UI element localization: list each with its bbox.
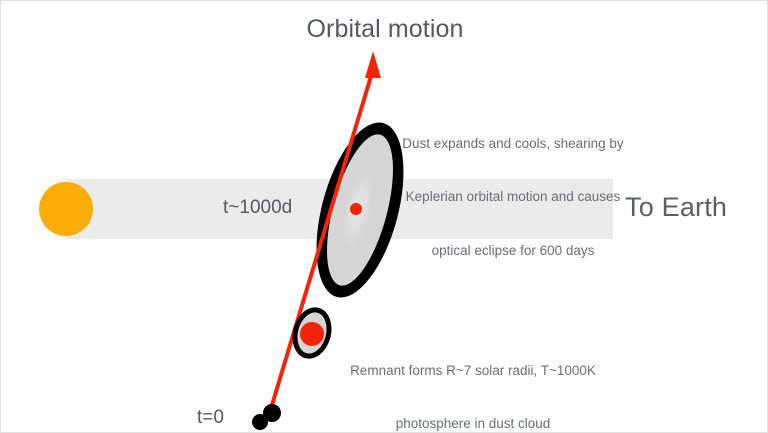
dust-annotation-line-2: Keplerian orbital motion and causes: [385, 188, 641, 206]
sun: [39, 182, 93, 236]
remnant-core-dot: [350, 203, 362, 215]
remnant-annotation-line-1: Remnant forms R~7 solar radii, T~1000K: [337, 362, 609, 380]
page-title: Orbital motion: [1, 13, 768, 46]
collision-annotation: Collision generates dust and hot remnant: [312, 411, 558, 433]
diagram-canvas: Orbital motion To Earth t~1000d t=0 Dust…: [0, 0, 768, 433]
dust-annotation-line-3: optical eclipse for 600 days: [385, 242, 641, 260]
orbital-motion-arrowhead: [365, 51, 381, 78]
dust-annotation: Dust expands and cools, shearing by Kepl…: [385, 99, 641, 295]
colliding-body-small: [252, 414, 268, 430]
time-late-label: t~1000d: [223, 195, 292, 220]
time-zero-label: t=0: [197, 405, 224, 430]
remnant-photosphere: [300, 322, 324, 346]
dust-annotation-line-1: Dust expands and cools, shearing by: [385, 135, 641, 153]
